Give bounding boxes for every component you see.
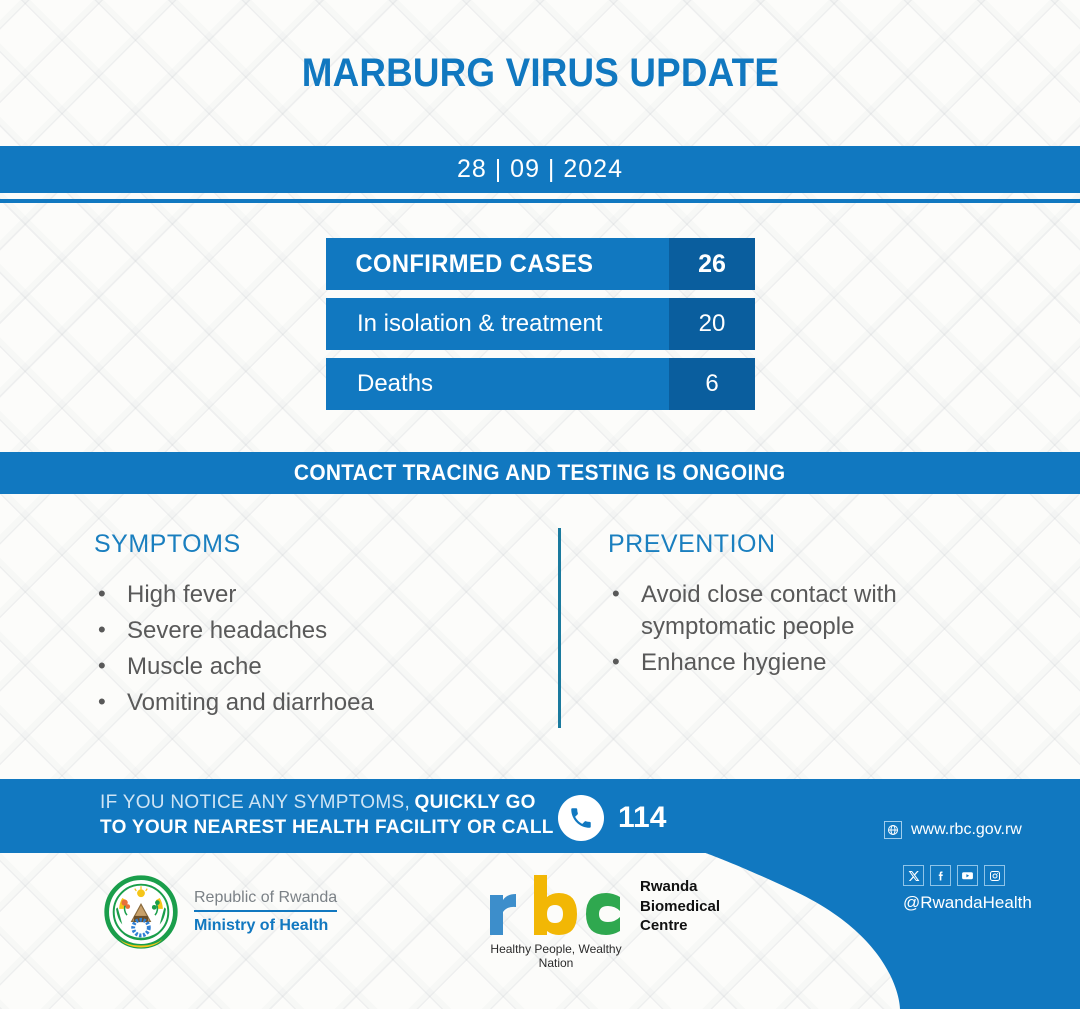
prevention-list: Avoid close contact with symptomatic peo…	[608, 579, 1008, 679]
rbc-tagline: Healthy People, Wealthy Nation	[486, 942, 626, 970]
prevention-column: PREVENTION Avoid close contact with symp…	[608, 530, 1008, 683]
footer: IF YOU NOTICE ANY SYMPTOMS, QUICKLY GO T…	[0, 779, 1080, 1009]
cta-line1-light: IF YOU NOTICE ANY SYMPTOMS,	[100, 792, 410, 813]
phone-number: 114	[618, 801, 666, 835]
column-divider	[558, 528, 561, 728]
list-item: Avoid close contact with symptomatic peo…	[608, 579, 1008, 643]
list-item: Enhance hygiene	[608, 647, 1008, 679]
rbc-name-line1: Rwanda	[640, 877, 720, 897]
facebook-icon[interactable]	[930, 865, 951, 886]
banner-text: CONTACT TRACING AND TESTING IS ONGOING	[294, 460, 786, 486]
date-bar: 28 | 09 | 2024	[0, 146, 1080, 193]
symptoms-heading: SYMPTOMS	[94, 530, 534, 559]
date-underline-rule	[0, 199, 1080, 203]
table-row: Deaths 6	[326, 358, 755, 410]
call-to-action: IF YOU NOTICE ANY SYMPTOMS, QUICKLY GO T…	[100, 791, 560, 840]
list-item: Severe headaches	[94, 615, 534, 647]
rwanda-coat-of-arms-icon	[102, 872, 180, 952]
symptoms-column: SYMPTOMS High fever Severe headaches Mus…	[94, 530, 534, 723]
stat-value-deaths: 6	[669, 358, 755, 410]
footer-content: IF YOU NOTICE ANY SYMPTOMS, QUICKLY GO T…	[0, 779, 1080, 1009]
ministry-of-health-logo: Republic of Rwanda Ministry of Health	[102, 872, 337, 952]
website-link[interactable]: www.rbc.gov.rw	[884, 821, 1022, 839]
stat-value-confirmed-cases: 26	[669, 238, 755, 290]
table-row: In isolation & treatment 20	[326, 298, 755, 350]
title-section: MARBURG VIRUS UPDATE	[0, 0, 1080, 146]
instagram-icon[interactable]	[984, 865, 1005, 886]
statistics-table: CONFIRMED CASES 26 In isolation & treatm…	[326, 238, 755, 418]
list-item: Vomiting and diarrhoea	[94, 687, 534, 719]
stat-label-deaths: Deaths	[326, 358, 669, 410]
rbc-name-line3: Centre	[640, 916, 720, 936]
marburg-virus-update-poster: MARBURG VIRUS UPDATE 28 | 09 | 2024 CONF…	[0, 0, 1080, 1009]
youtube-icon[interactable]	[957, 865, 978, 886]
symptoms-list: High fever Severe headaches Muscle ache …	[94, 579, 534, 719]
ministry-department-label: Ministry of Health	[194, 916, 337, 936]
contact-tracing-banner: CONTACT TRACING AND TESTING IS ONGOING	[0, 452, 1080, 494]
ministry-country-label: Republic of Rwanda	[194, 888, 337, 912]
stat-label-isolation-treatment: In isolation & treatment	[326, 298, 669, 350]
cta-line1-bold: QUICKLY GO	[415, 792, 536, 813]
globe-icon	[884, 821, 902, 839]
social-links[interactable]	[903, 865, 1005, 886]
phone-icon	[558, 795, 604, 841]
stat-value-isolation-treatment: 20	[669, 298, 755, 350]
x-icon[interactable]	[903, 865, 924, 886]
rbc-logo: Rwanda Biomedical Centre Healthy People,…	[486, 873, 720, 970]
list-item: Muscle ache	[94, 651, 534, 683]
rbc-lettermark-icon	[486, 873, 626, 935]
social-handle: @RwandaHealth	[903, 893, 1032, 913]
stat-label-confirmed-cases: CONFIRMED CASES	[326, 238, 652, 290]
table-row: CONFIRMED CASES 26	[326, 238, 755, 290]
page-title: MARBURG VIRUS UPDATE	[301, 51, 778, 96]
list-item: High fever	[94, 579, 534, 611]
website-url: www.rbc.gov.rw	[911, 821, 1022, 839]
rbc-name-line2: Biomedical	[640, 897, 720, 917]
prevention-heading: PREVENTION	[608, 530, 1008, 559]
phone-contact[interactable]: 114	[558, 795, 666, 841]
cta-line2: TO YOUR NEAREST HEALTH FACILITY OR CALL	[100, 816, 560, 840]
info-columns: SYMPTOMS High fever Severe headaches Mus…	[0, 530, 1080, 770]
date-text: 28 | 09 | 2024	[457, 155, 623, 184]
